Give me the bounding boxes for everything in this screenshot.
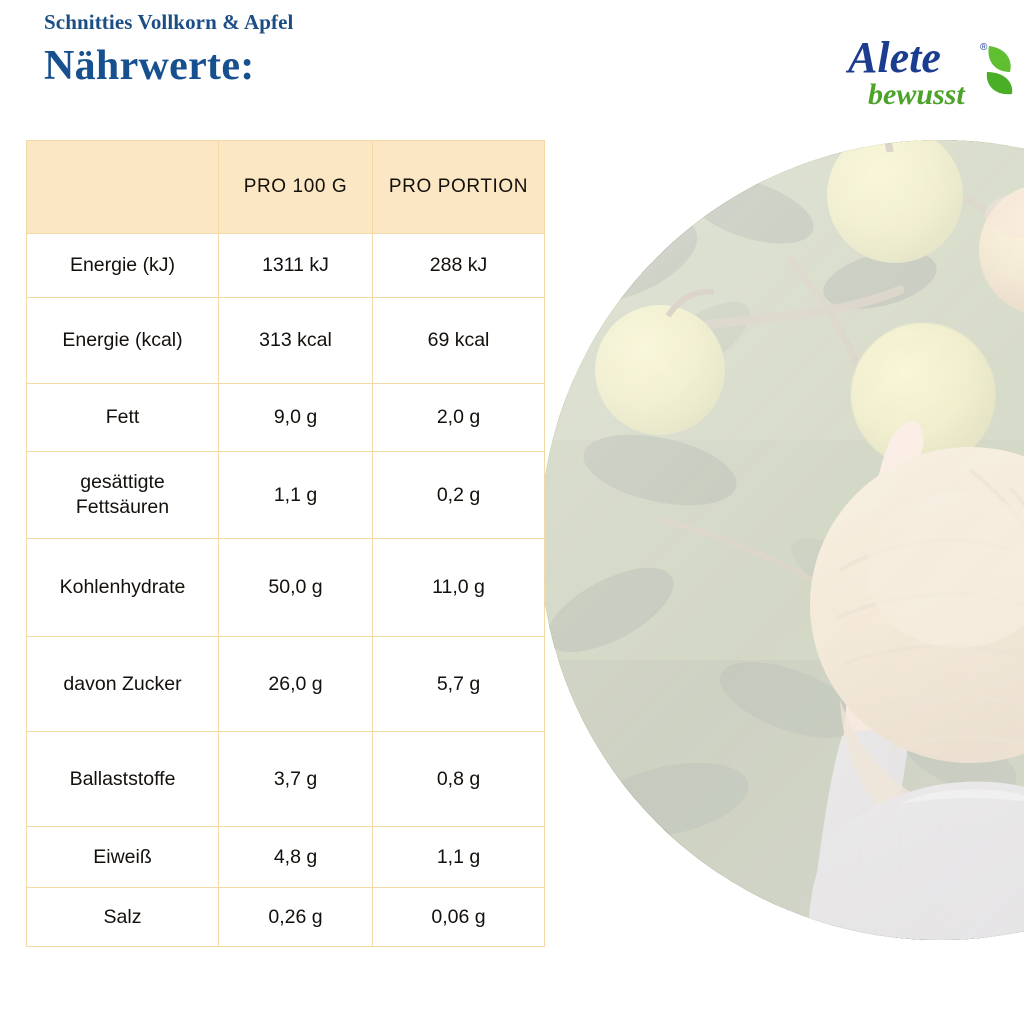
nutrient-label: Ballaststoffe [27,732,219,827]
value-per-portion: 5,7 g [373,637,545,732]
value-per-100g: 9,0 g [219,384,373,452]
nutrient-label: Salz [27,888,219,947]
value-per-100g: 3,7 g [219,732,373,827]
alete-bewusst-logo: Alete ® bewusst [846,28,1016,114]
value-per-portion: 69 kcal [373,298,545,384]
table-row: Energie (kJ) 1311 kJ 288 kJ [27,234,545,298]
photo-gradient-overlay [540,140,1024,940]
table-header-row: PRO 100 G PRO PORTION [27,141,545,234]
value-per-portion: 0,06 g [373,888,545,947]
column-header-per-100g: PRO 100 G [219,141,373,234]
page-title: Nährwerte: [44,42,255,90]
value-per-100g: 26,0 g [219,637,373,732]
value-per-portion: 2,0 g [373,384,545,452]
column-header-nutrient [27,141,219,234]
table-row: Kohlenhydrate 50,0 g 11,0 g [27,539,545,637]
nutrient-label: Fett [27,384,219,452]
table-row: Fett 9,0 g 2,0 g [27,384,545,452]
nutrient-label: gesättigte Fettsäuren [27,452,219,539]
logo-tagline-text: bewusst [868,78,966,111]
value-per-portion: 0,8 g [373,732,545,827]
table-row: davon Zucker 26,0 g 5,7 g [27,637,545,732]
nutrient-label: Kohlenhydrate [27,539,219,637]
value-per-100g: 0,26 g [219,888,373,947]
table-row: Eiweiß 4,8 g 1,1 g [27,827,545,888]
nutrient-label: Eiweiß [27,827,219,888]
logo-brand-text: Alete [846,33,941,82]
logo-trademark: ® [980,42,988,53]
value-per-100g: 1,1 g [219,452,373,539]
value-per-100g: 50,0 g [219,539,373,637]
nutrient-label: davon Zucker [27,637,219,732]
value-per-portion: 0,2 g [373,452,545,539]
table-row: Ballaststoffe 3,7 g 0,8 g [27,732,545,827]
value-per-portion: 1,1 g [373,827,545,888]
value-per-portion: 288 kJ [373,234,545,298]
value-per-100g: 313 kcal [219,298,373,384]
leaf-icon [987,46,1012,94]
nutrient-label: Energie (kcal) [27,298,219,384]
table-row: Salz 0,26 g 0,06 g [27,888,545,947]
value-per-100g: 4,8 g [219,827,373,888]
column-header-per-portion: PRO PORTION [373,141,545,234]
nutrition-table: PRO 100 G PRO PORTION Energie (kJ) 1311 … [26,140,545,947]
apple-tree-photo [540,140,1024,940]
value-per-portion: 11,0 g [373,539,545,637]
table-row: Energie (kcal) 313 kcal 69 kcal [27,298,545,384]
nutrition-infographic: Schnitties Vollkorn & Apfel Nährwerte: A… [0,0,1024,1024]
value-per-100g: 1311 kJ [219,234,373,298]
table-row: gesättigte Fettsäuren 1,1 g 0,2 g [27,452,545,539]
product-name: Schnitties Vollkorn & Apfel [44,10,294,35]
nutrient-label: Energie (kJ) [27,234,219,298]
